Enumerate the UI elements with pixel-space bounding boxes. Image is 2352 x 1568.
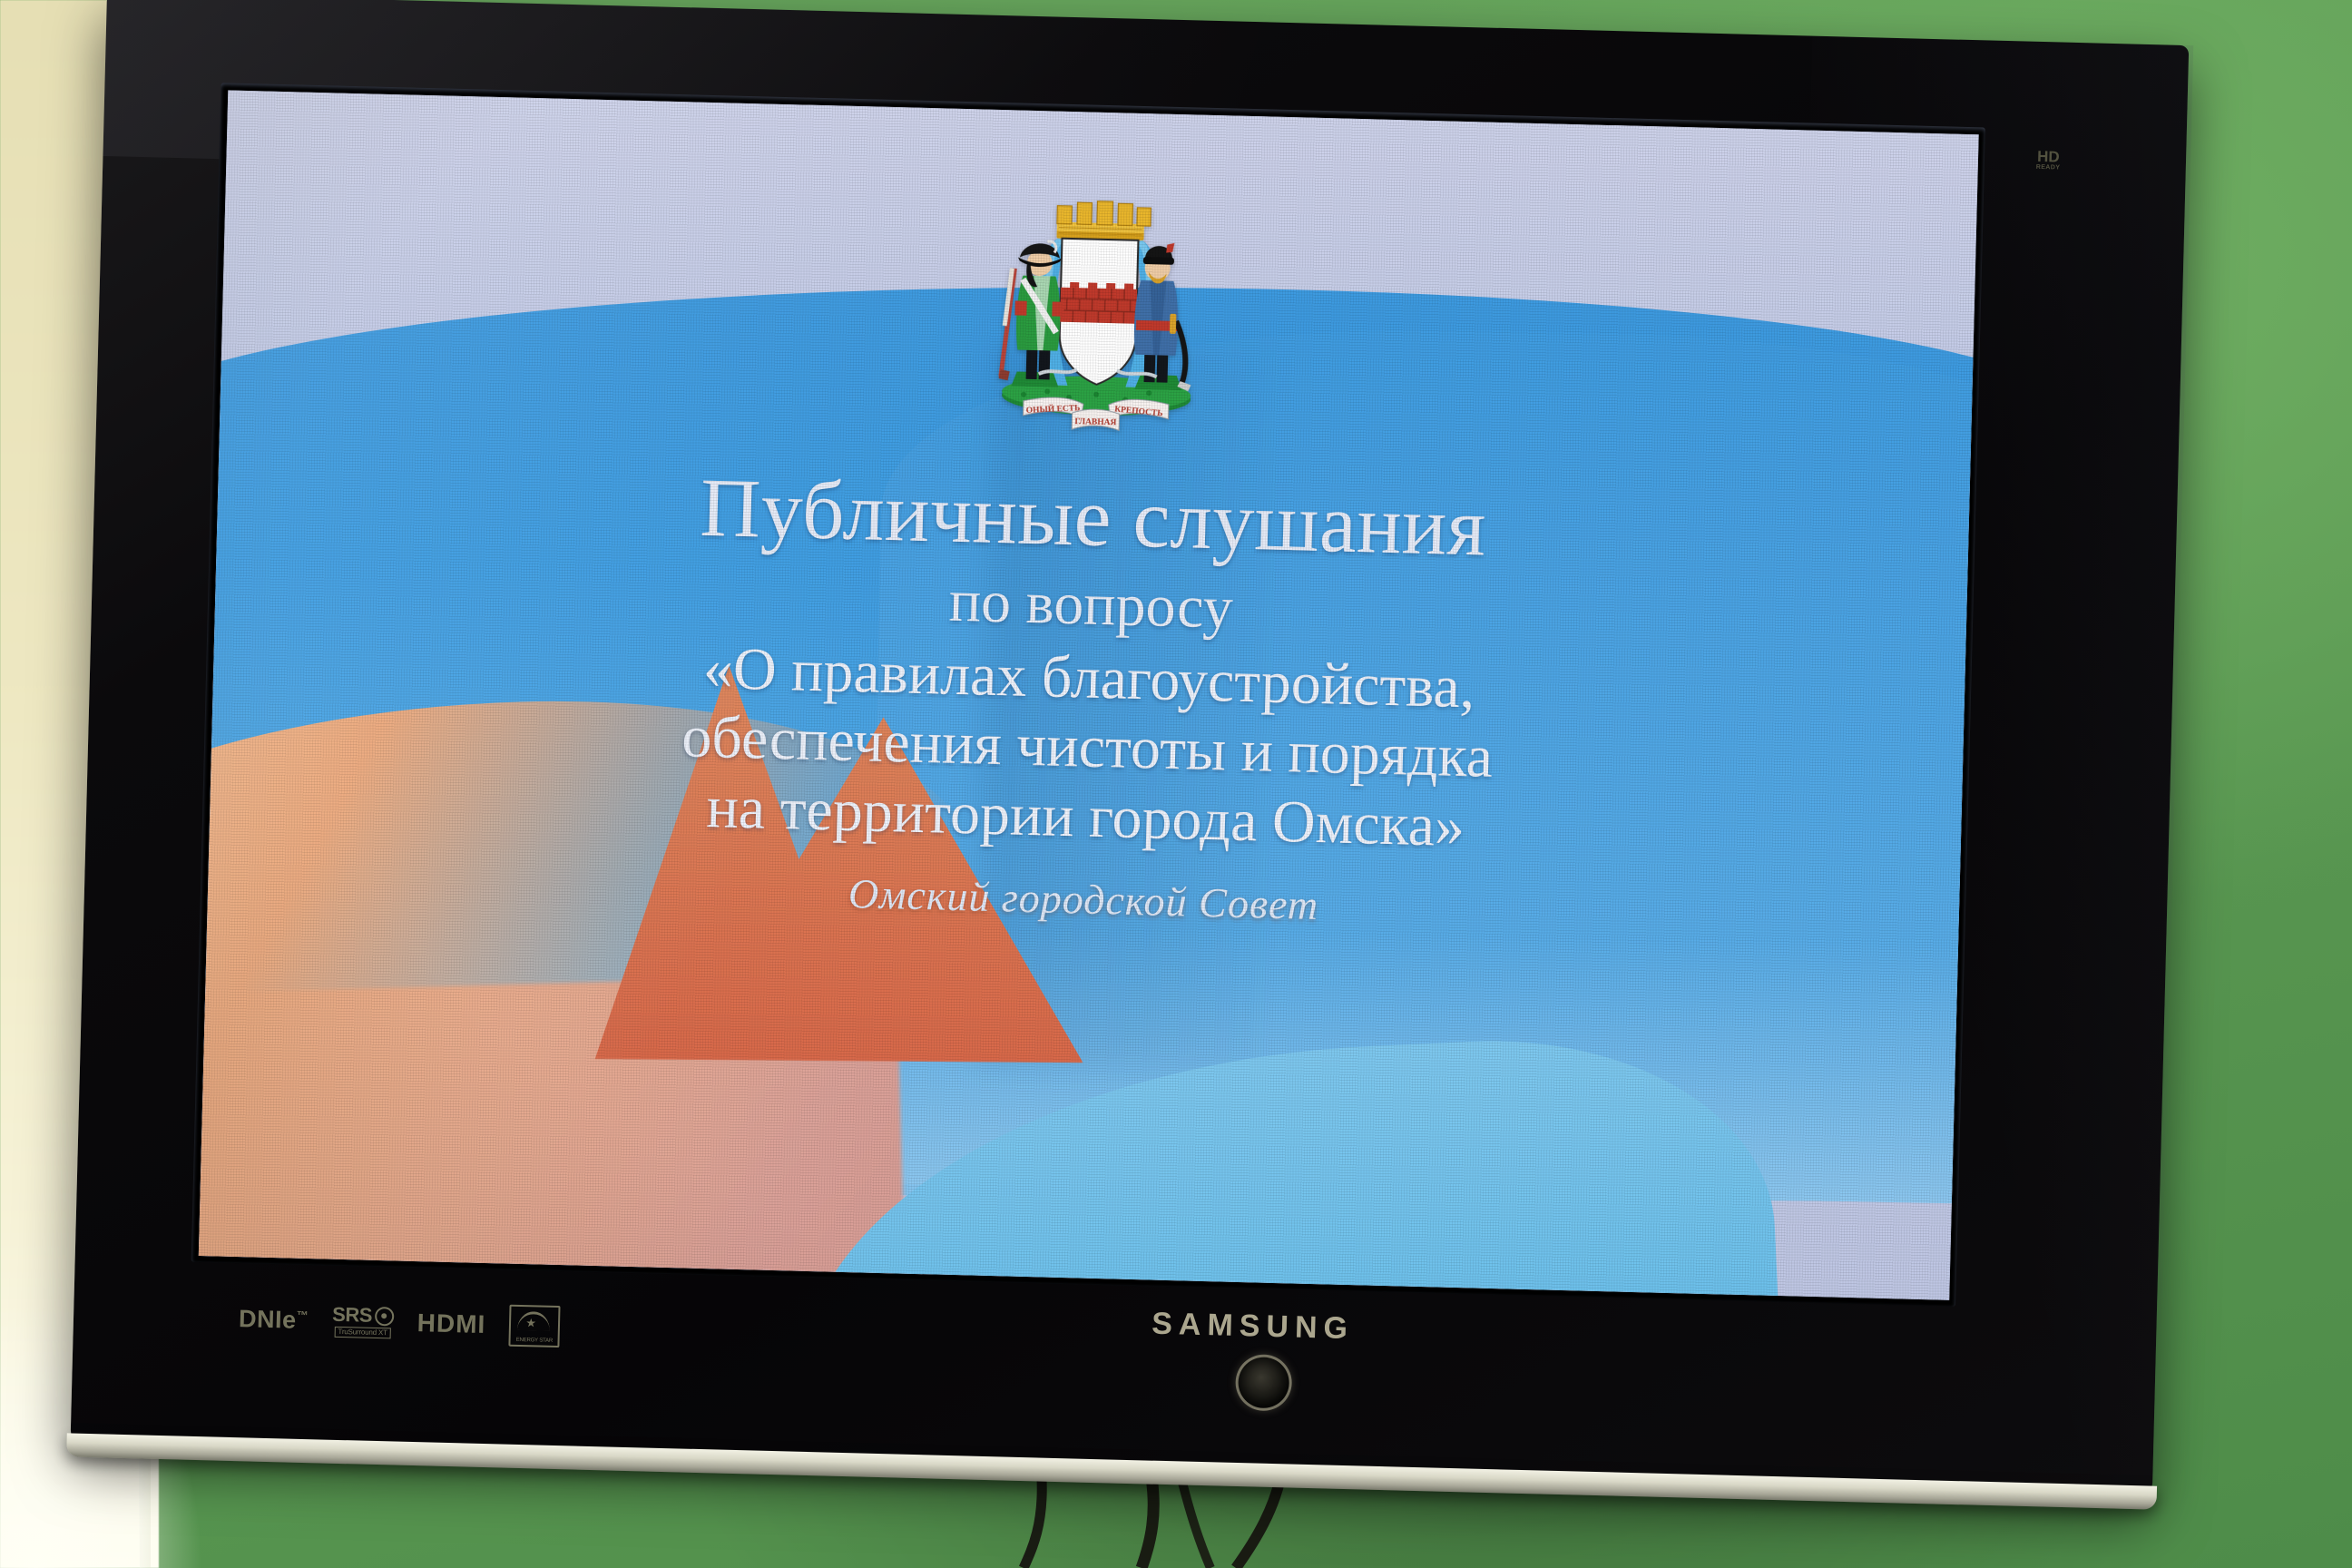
energy-star-label: ENERGY STAR [516,1338,553,1344]
hdmi-logo: HDMI [416,1308,485,1339]
dnie-label: DNIe [239,1305,297,1334]
dnie-trademark: ™ [297,1308,309,1321]
samsung-logo: SAMSUNG [1151,1307,1355,1347]
room-scene: ОНЫЙ ЕСТЬ ГЛАВНАЯ КРЕПОСТЬ Публичные слу… [0,0,2352,1568]
motto-center: ГЛАВНАЯ [1074,417,1116,427]
hd-label: HD [2037,148,2060,166]
omsk-coat-of-arms-icon: ОНЫЙ ЕСТЬ ГЛАВНАЯ КРЕПОСТЬ [958,180,1237,458]
slide-text-block: Публичные слушания по вопросу «О правила… [208,453,1970,946]
srs-logo: SRS TruSurround XT [332,1305,395,1339]
feature-logo-row: DNIe™ SRS TruSurround XT HDMI ★ ENERGY S… [238,1298,560,1347]
slide-content: ОНЫЙ ЕСТЬ ГЛАВНАЯ КРЕПОСТЬ Публичные слу… [199,90,1979,1299]
dnie-logo: DNIe™ [239,1305,309,1335]
energy-star-logo: ★ ENERGY STAR [509,1305,561,1347]
slide-quote: «О правилах благоустройства, обеспечения… [210,622,1965,874]
presentation-slide: ОНЫЙ ЕСТЬ ГЛАВНАЯ КРЕПОСТЬ Публичные слу… [199,90,1979,1299]
emblem-container: ОНЫЙ ЕСТЬ ГЛАВНАЯ КРЕПОСТЬ [220,161,1977,477]
television: ОНЫЙ ЕСТЬ ГЛАВНАЯ КРЕПОСТЬ Публичные слу… [68,0,2193,1568]
srs-dot-icon [375,1306,395,1326]
srs-label: SRS [332,1305,372,1326]
tv-screen: ОНЫЙ ЕСТЬ ГЛАВНАЯ КРЕПОСТЬ Публичные слу… [199,90,1979,1299]
energy-star-icon: ★ [525,1317,536,1328]
hd-sublabel: READY [2036,164,2061,171]
srs-sublabel: TruSurround XT [334,1327,391,1339]
hd-ready-badge: HD READY [2036,149,2061,171]
